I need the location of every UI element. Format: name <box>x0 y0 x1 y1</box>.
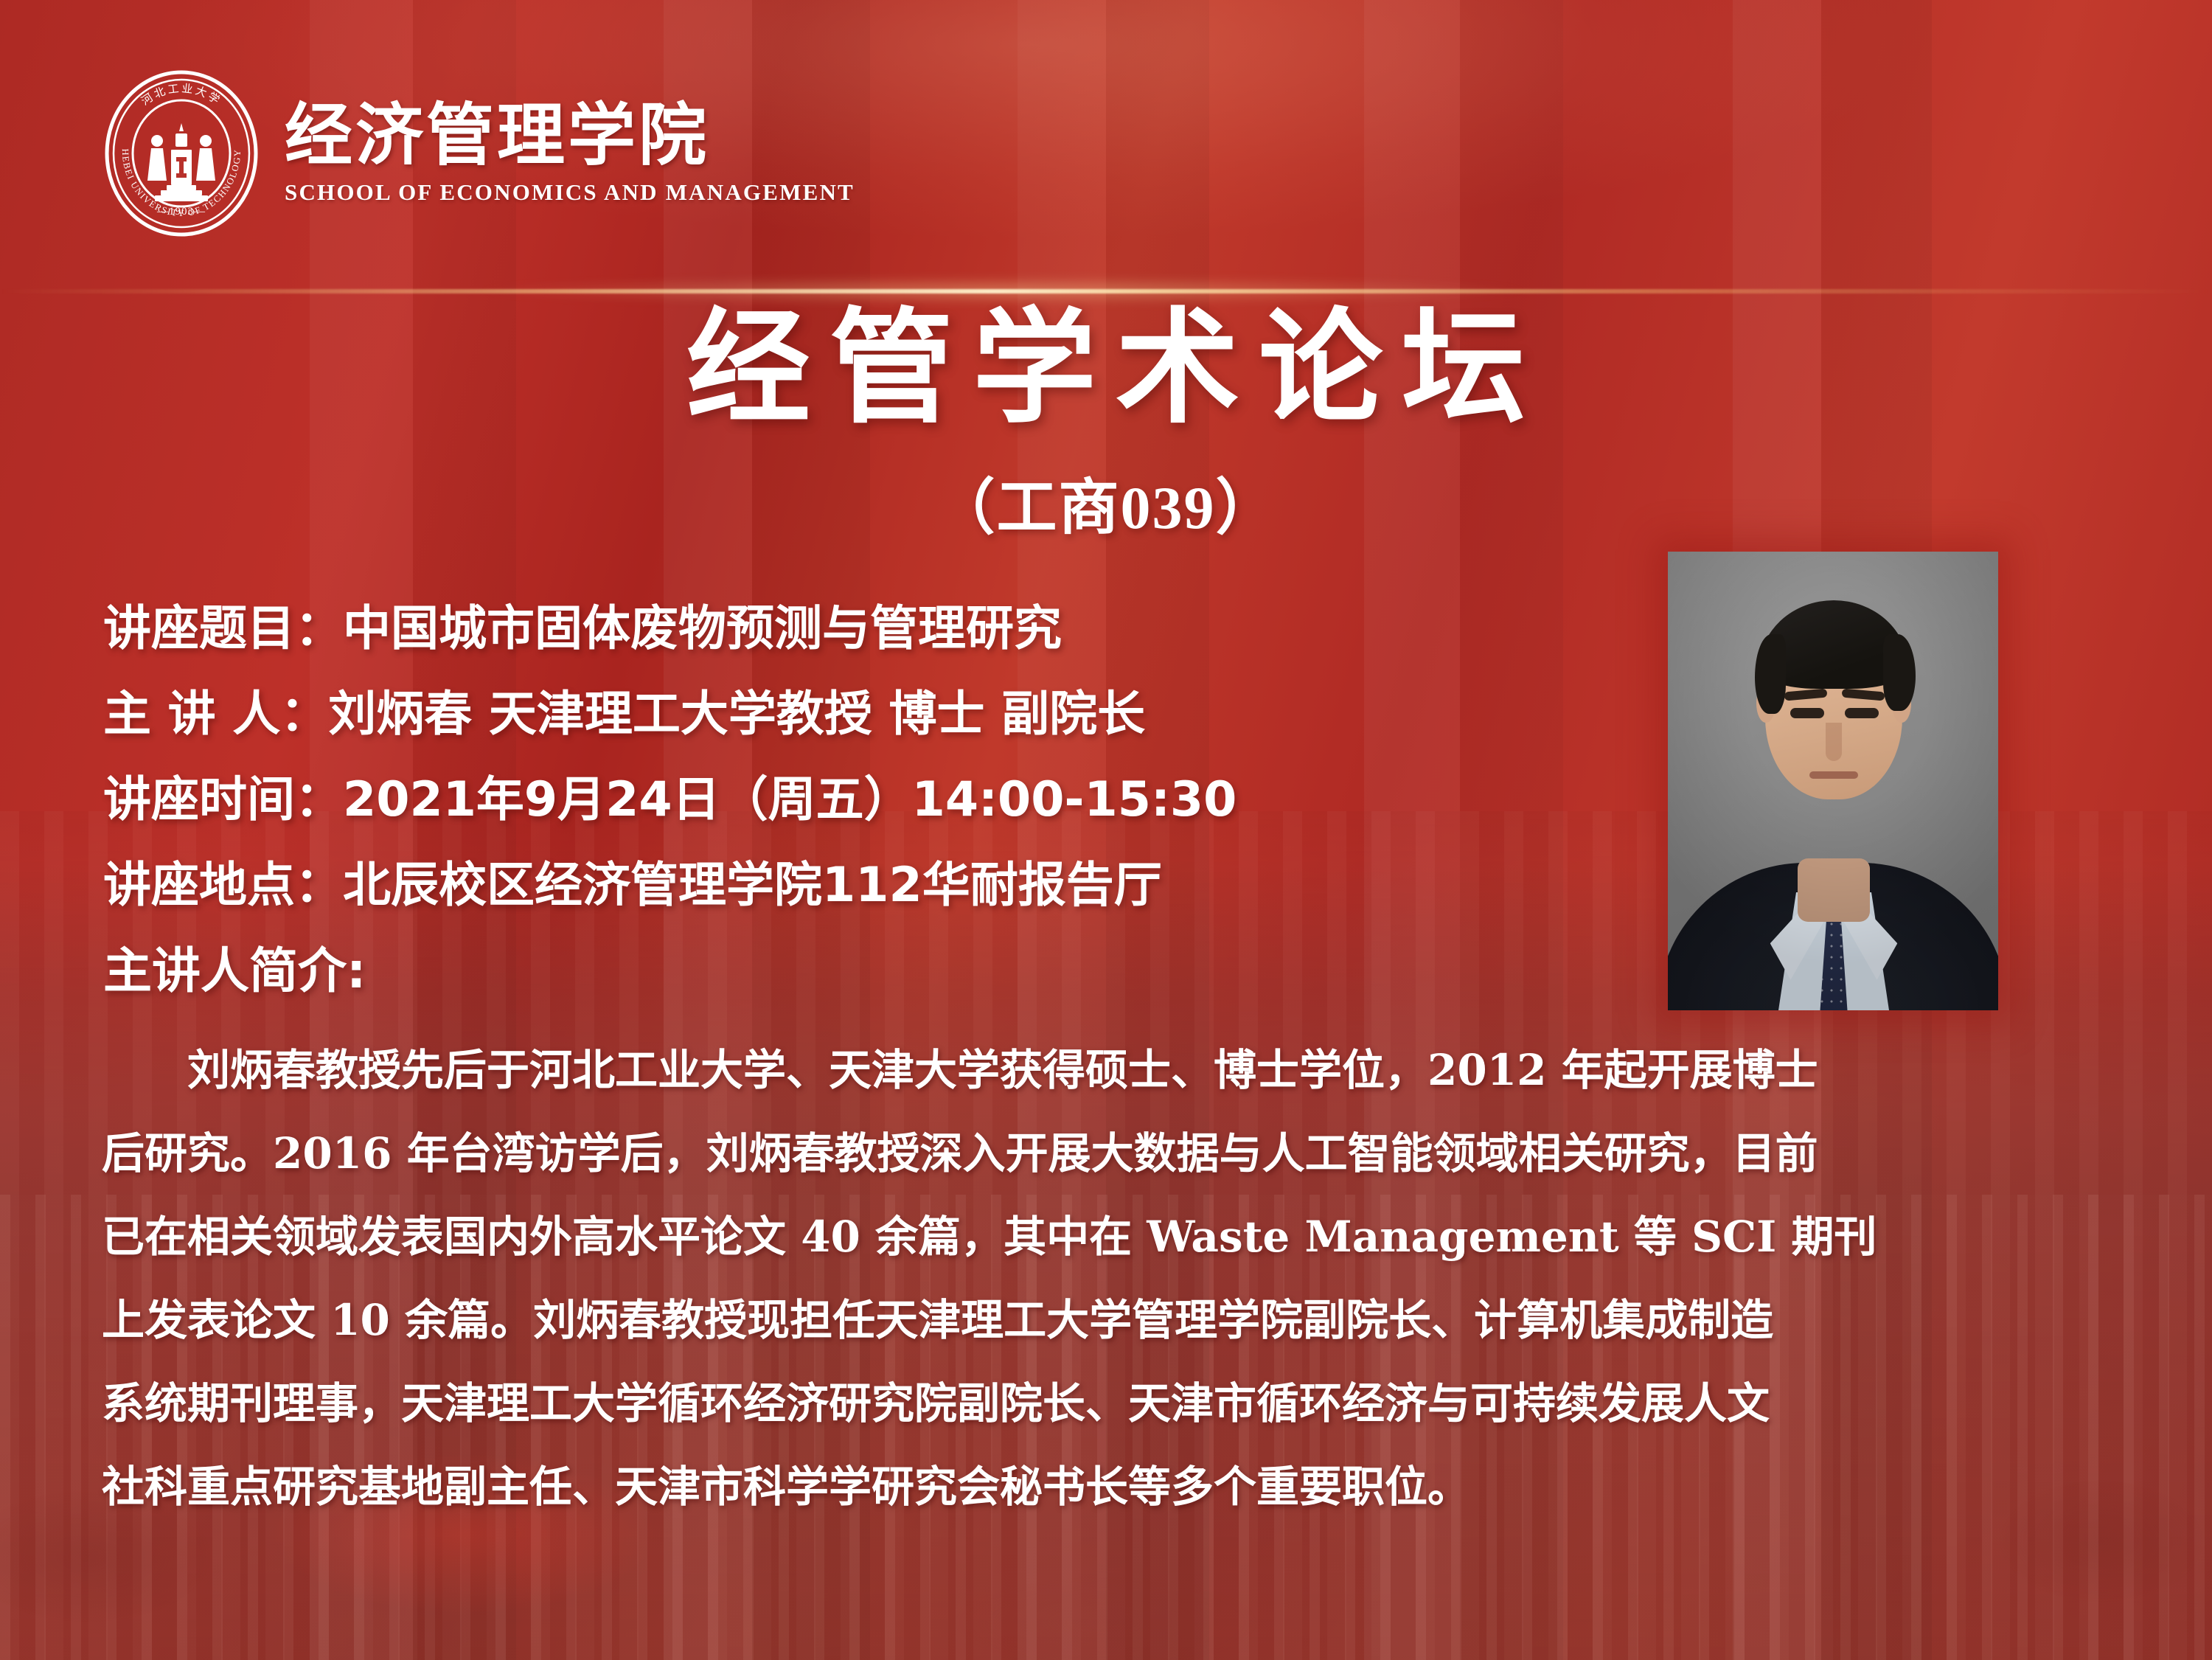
info-value-topic: 中国城市固体废物预测与管理研究 <box>343 601 1062 656</box>
info-label-venue: 讲座地点： <box>103 858 343 913</box>
info-row-topic: 讲座题目：中国城市固体废物预测与管理研究 <box>103 586 1652 672</box>
poster-canvas: HEBEI UNIVERSITY OF TECHNOLOGY 河北工业大学 <box>0 0 2212 1660</box>
bio-line-text: 已在相关领域发表国内外高水平论文 40 余篇，其中在 Waste Managem… <box>102 1195 1877 1279</box>
bio-line-text: 上发表论文 10 余篇。刘炳春教授现担任天津理工大学管理学院副院长、计算机集成制… <box>102 1279 1773 1362</box>
bio-line: 系统期刊理事，天津理工大学循环经济研究院副院长、天津市循环经济与可持续发展人文 <box>102 1362 2115 1445</box>
event-info-block: 讲座题目：中国城市固体废物预测与管理研究 主 讲 人：刘炳春 天津理工大学教授 … <box>103 586 1652 1014</box>
info-label-topic: 讲座题目： <box>103 601 343 656</box>
photo-vignette <box>1668 552 1998 1010</box>
bio-line: 后研究。2016 年台湾访学后，刘炳春教授深入开展大数据与人工智能领域相关研究，… <box>102 1112 2115 1195</box>
school-name-cn: 经济管理学院 <box>285 101 855 170</box>
info-value-venue: 北辰校区经济管理学院112华耐报告厅 <box>343 858 1162 913</box>
bio-line-text: 后研究。2016 年台湾访学后，刘炳春教授深入开展大数据与人工智能领域相关研究，… <box>102 1112 1818 1195</box>
page-subtitle: （工商039） <box>0 478 2212 538</box>
gold-divider-line <box>0 289 2212 294</box>
bio-line-text: 社科重点研究基地副主任、天津市科学学研究会秘书长等多个重要职位。 <box>102 1445 1470 1529</box>
bio-line-text: 刘炳春教授先后于河北工业大学、天津大学获得硕士、博士学位，2012 年起开展博士 <box>102 1029 1818 1112</box>
page-title: 经管学术论坛 <box>0 306 2212 430</box>
bio-line-text: 系统期刊理事，天津理工大学循环经济研究院副院长、天津市循环经济与可持续发展人文 <box>102 1362 1770 1445</box>
info-label-speaker: 主 讲 人： <box>103 687 328 742</box>
bio-heading: 主讲人简介: <box>103 928 1652 1014</box>
svg-text:—1903—: —1903— <box>156 206 206 218</box>
bio-line: 社科重点研究基地副主任、天津市科学学研究会秘书长等多个重要职位。 <box>102 1445 2115 1529</box>
school-name-en: SCHOOL OF ECONOMICS AND MANAGEMENT <box>285 179 855 206</box>
poster-header: HEBEI UNIVERSITY OF TECHNOLOGY 河北工业大学 <box>103 70 855 237</box>
bio-line: 上发表论文 10 余篇。刘炳春教授现担任天津理工大学管理学院副院长、计算机集成制… <box>102 1279 2115 1362</box>
bio-line: 刘炳春教授先后于河北工业大学、天津大学获得硕士、博士学位，2012 年起开展博士 <box>102 1029 2115 1112</box>
svg-text:河北工业大学: 河北工业大学 <box>139 82 223 108</box>
school-name-block: 经济管理学院 SCHOOL OF ECONOMICS AND MANAGEMEN… <box>285 101 855 206</box>
speaker-bio: 刘炳春教授先后于河北工业大学、天津大学获得硕士、博士学位，2012 年起开展博士… <box>102 1029 2115 1529</box>
info-value-time: 2021年9月24日（周五）14:00-15:30 <box>343 772 1237 827</box>
info-row-venue: 讲座地点：北辰校区经济管理学院112华耐报告厅 <box>103 843 1652 928</box>
info-row-time: 讲座时间：2021年9月24日（周五）14:00-15:30 <box>103 757 1652 843</box>
speaker-photo <box>1668 552 1998 1010</box>
bio-line: 已在相关领域发表国内外高水平论文 40 余篇，其中在 Waste Managem… <box>102 1195 2115 1279</box>
info-row-speaker: 主 讲 人：刘炳春 天津理工大学教授 博士 副院长 <box>103 672 1652 757</box>
info-value-speaker: 刘炳春 天津理工大学教授 博士 副院长 <box>328 687 1145 742</box>
info-label-time: 讲座时间： <box>103 772 343 827</box>
speaker-photo-frame <box>1668 552 1998 1010</box>
university-seal-icon: HEBEI UNIVERSITY OF TECHNOLOGY 河北工业大学 <box>103 70 260 237</box>
